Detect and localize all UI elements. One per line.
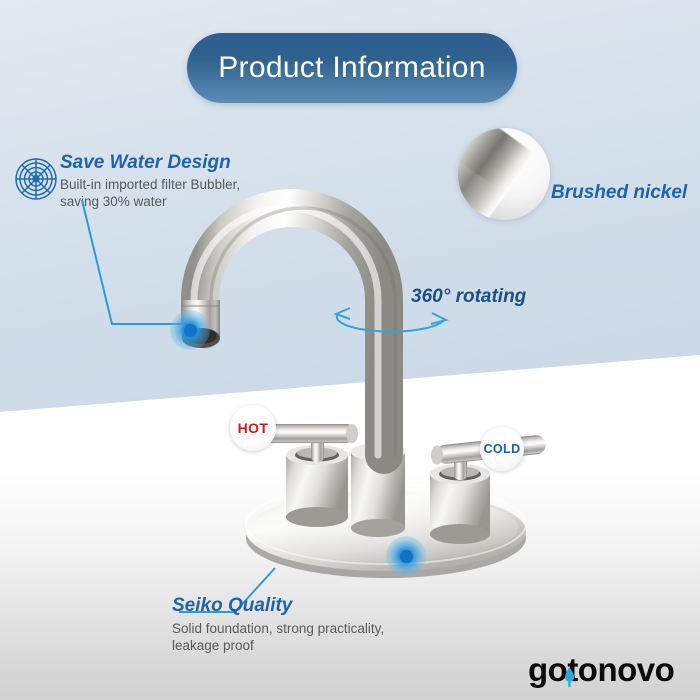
aerator-mesh-icon: [14, 157, 58, 201]
brushed-nickel-label: Brushed nickel: [551, 182, 687, 204]
cold-badge: COLD: [480, 427, 524, 471]
page-title: Product Information: [218, 51, 486, 85]
rotating-label: 360° rotating: [411, 286, 526, 308]
save-water-heading: Save Water Design: [60, 152, 270, 174]
logo-text: gotonovo: [528, 652, 674, 688]
cold-badge-label: COLD: [483, 442, 520, 456]
infographic-canvas: Product Information Save Water Design Bu…: [0, 0, 700, 700]
seiko-quality-heading: Seiko Quality: [172, 595, 472, 617]
hot-badge: HOT: [230, 405, 276, 451]
page-title-banner: Product Information: [187, 33, 517, 103]
brushed-nickel-magnifier: [458, 128, 550, 220]
marker-dot-base: [386, 536, 426, 576]
gotonovo-logo-mark: gotonovo: [528, 652, 688, 688]
seiko-quality-body: Solid foundation, strong practicality, l…: [172, 620, 472, 655]
brand-logo: gotonovo: [528, 652, 688, 688]
hot-badge-label: HOT: [238, 420, 269, 436]
marker-dot-spout: [170, 310, 210, 350]
seiko-quality-callout: Seiko Quality Solid foundation, strong p…: [172, 595, 472, 655]
